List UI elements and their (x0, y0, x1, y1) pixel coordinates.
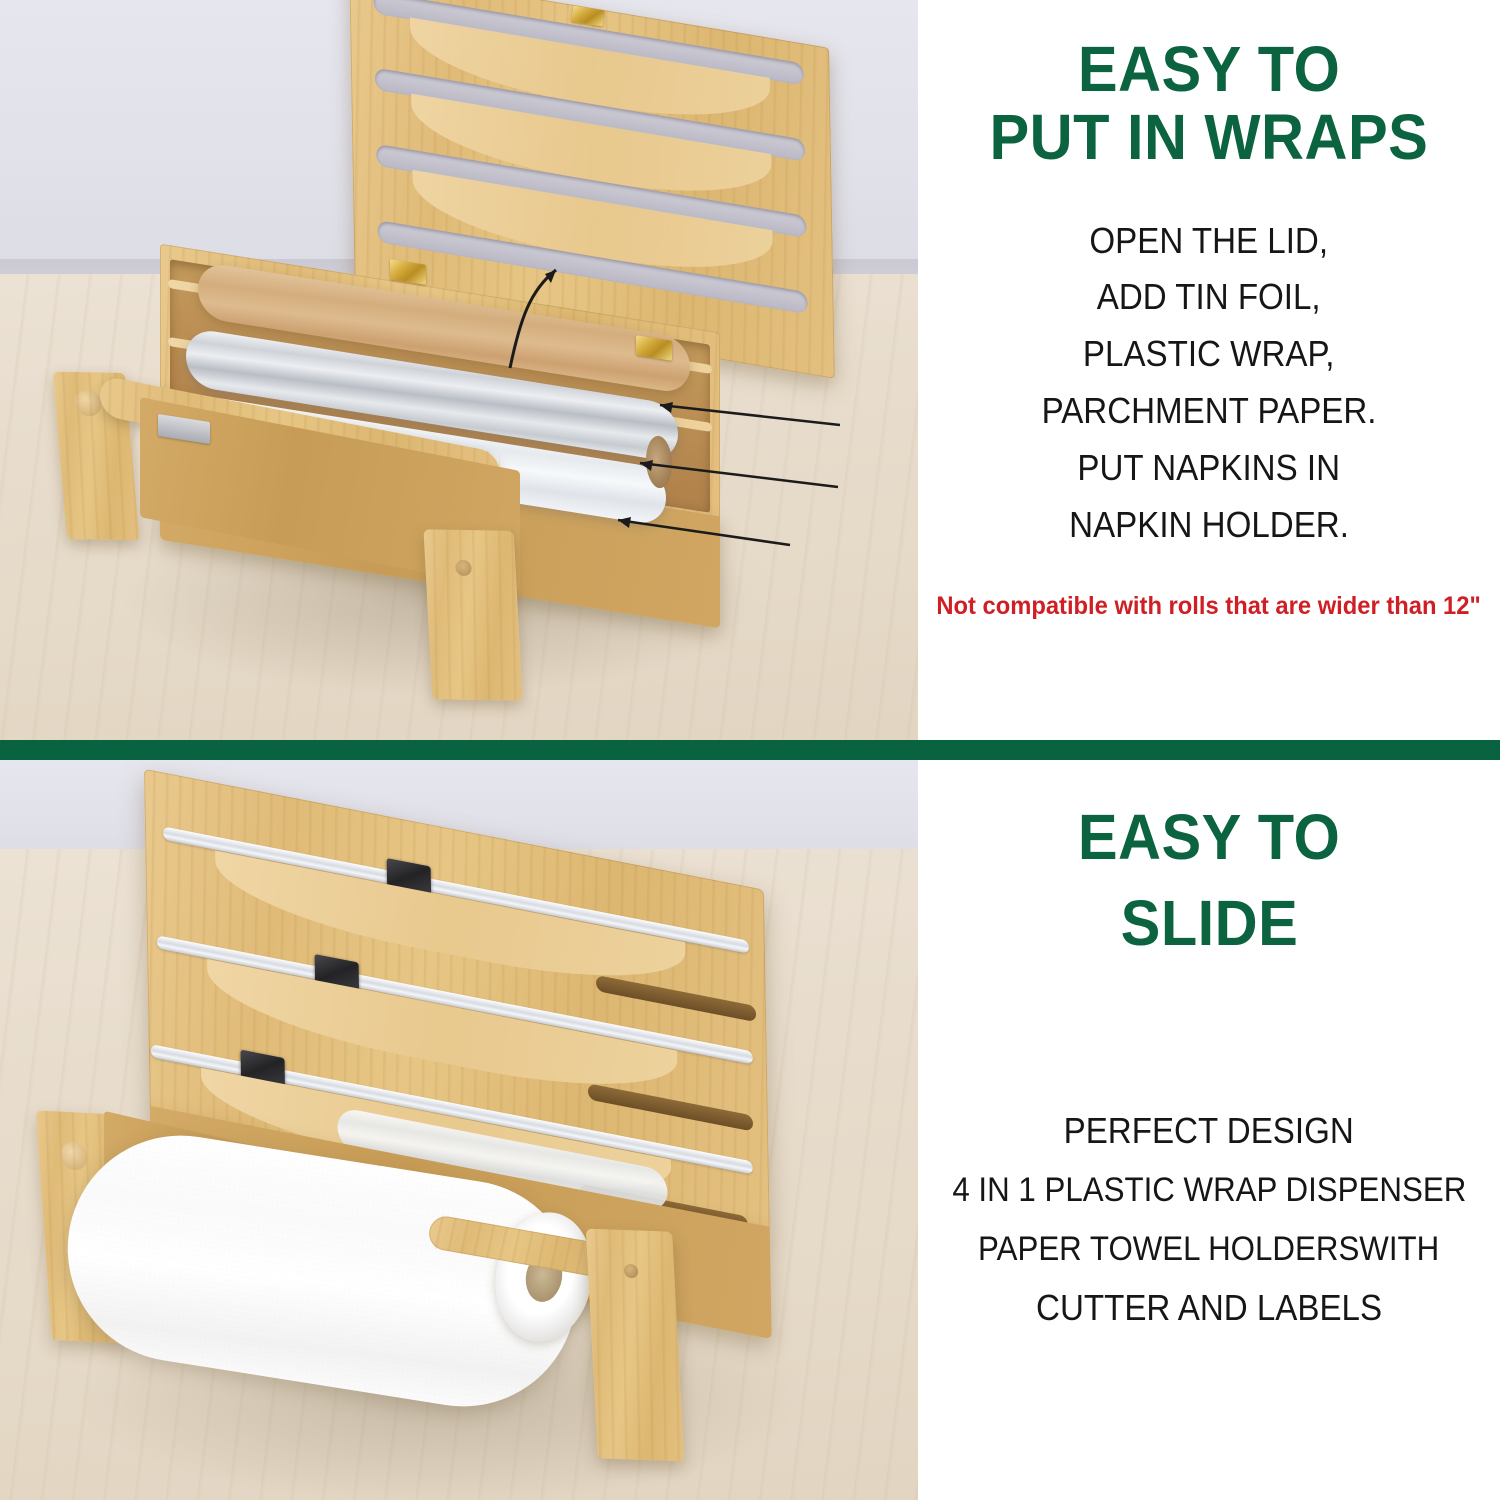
towel-holder-left-hole (74, 390, 102, 416)
top-body-line-5: PUT NAPKINS IN (1078, 445, 1341, 492)
bottom-heading-line-1: EASY TO (1078, 804, 1340, 872)
top-body-line-2: ADD TIN FOIL, (1097, 274, 1321, 321)
bottom-right-text-panel: EASY TO SLIDE PERFECT DESIGN 4 IN 1 PLAS… (918, 760, 1500, 1500)
top-body-line-3: PLASTIC WRAP, (1083, 331, 1335, 378)
towel-holder-right-upright (423, 529, 522, 700)
section-divider (0, 740, 1500, 760)
top-body-line-4: PARCHMENT PAPER. (1042, 388, 1377, 435)
towel-holder-right-hole-2 (624, 1264, 639, 1278)
bottom-body-list: PERFECT DESIGN 4 IN 1 PLASTIC WRAP DISPE… (930, 1108, 1489, 1332)
open-dispenser-scene (0, 0, 918, 740)
bottom-heading-line-2: SLIDE (1120, 890, 1298, 958)
top-left-product-photo (0, 0, 918, 740)
bottom-body-line-4: CUTTER AND LABELS (1036, 1285, 1382, 1332)
top-body-list: OPEN THE LID, ADD TIN FOIL, PLASTIC WRAP… (1027, 218, 1391, 549)
top-body-line-6: NAPKIN HOLDER. (1069, 502, 1349, 549)
top-body-line-1: OPEN THE LID, (1090, 218, 1329, 265)
bottom-left-product-photo: PARCHMENT FOIL PLASTIC (0, 760, 918, 1500)
infographic-page: EASY TO PUT IN WRAPS OPEN THE LID, ADD T… (0, 0, 1500, 1500)
compatibility-note: Not compatible with rolls that are wider… (937, 592, 1481, 621)
top-heading-line-2: PUT IN WRAPS (990, 104, 1429, 172)
towel-holder-right-upright-2 (586, 1229, 684, 1462)
top-right-text-panel: EASY TO PUT IN WRAPS OPEN THE LID, ADD T… (918, 0, 1500, 740)
bottom-body-line-3: PAPER TOWEL HOLDERSWITH (978, 1227, 1439, 1271)
top-heading-line-1: EASY TO (1078, 36, 1340, 104)
closed-dispenser-scene: PARCHMENT FOIL PLASTIC (0, 760, 918, 1500)
bottom-body-line-2: 4 IN 1 PLASTIC WRAP DISPENSER (952, 1168, 1466, 1212)
towel-holder-right-hole (455, 560, 472, 576)
bottom-body-line-1: PERFECT DESIGN (1064, 1108, 1354, 1155)
